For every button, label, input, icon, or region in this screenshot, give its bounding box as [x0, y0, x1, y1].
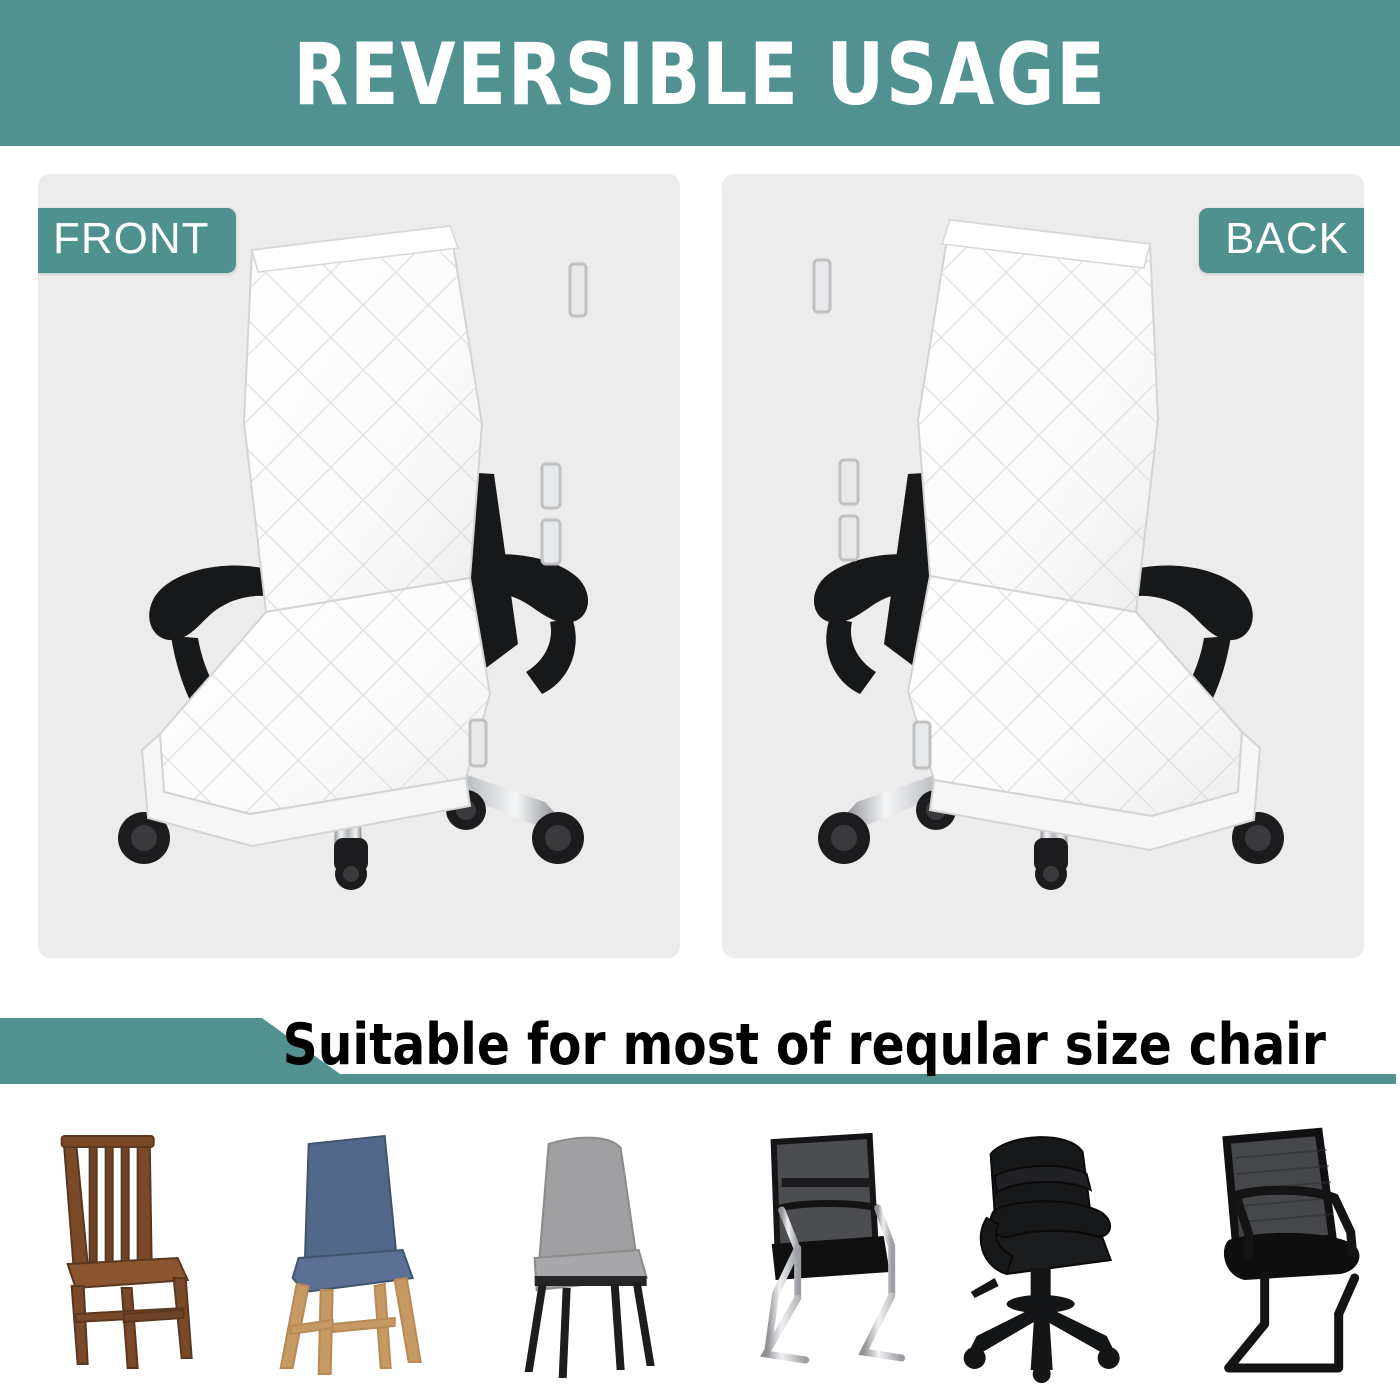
chair-thumbnail-mesh-back-chrome-sled-visitor-chair — [700, 1098, 933, 1398]
chair-thumbnail-grey-upholstered-black-leg-chair — [467, 1098, 700, 1398]
chair-thumbnail-black-mesh-cantilever-chair — [1167, 1098, 1400, 1398]
suitable-banner: Suitable for most of reqular size chair — [0, 1010, 1400, 1090]
panel-front: FRONT — [38, 174, 680, 958]
compatible-chairs-row — [0, 1098, 1400, 1398]
chair-cover-fabric-back — [814, 220, 1260, 850]
chair-thumbnail-black-leather-executive-swivel-chair — [933, 1098, 1166, 1398]
panel-back: BACK — [722, 174, 1364, 958]
header-band: REVERSIBLE USAGE — [0, 0, 1400, 146]
page-title: REVERSIBLE USAGE — [293, 32, 1106, 118]
badge-front: FRONT — [38, 208, 236, 273]
suitable-banner-text: Suitable for most of reqular size chair — [70, 1010, 1400, 1080]
comparison-panels: FRONT — [0, 160, 1400, 960]
chair-cover-back-image — [722, 174, 1364, 958]
chair-cover-fabric-front — [142, 226, 586, 846]
chair-thumbnail-blue-upholstered-wood-leg-chair — [233, 1098, 466, 1398]
chair-cover-front-image — [38, 174, 680, 958]
badge-back: BACK — [1199, 208, 1364, 273]
chair-thumbnail-wooden-slat-back-dining-chair — [0, 1098, 233, 1398]
